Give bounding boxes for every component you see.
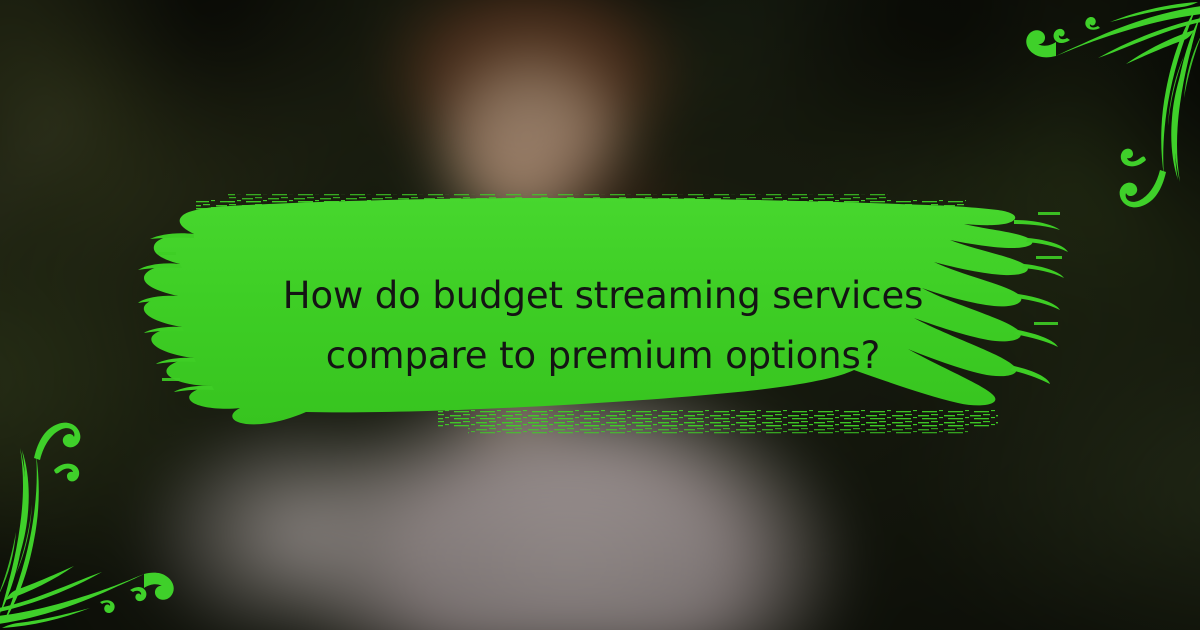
question-card-canvas: How do budget streaming services compare… (0, 0, 1200, 630)
page-title: How do budget streaming services compare… (202, 266, 1004, 386)
headline-brush-banner: How do budget streaming services compare… (138, 182, 1068, 447)
